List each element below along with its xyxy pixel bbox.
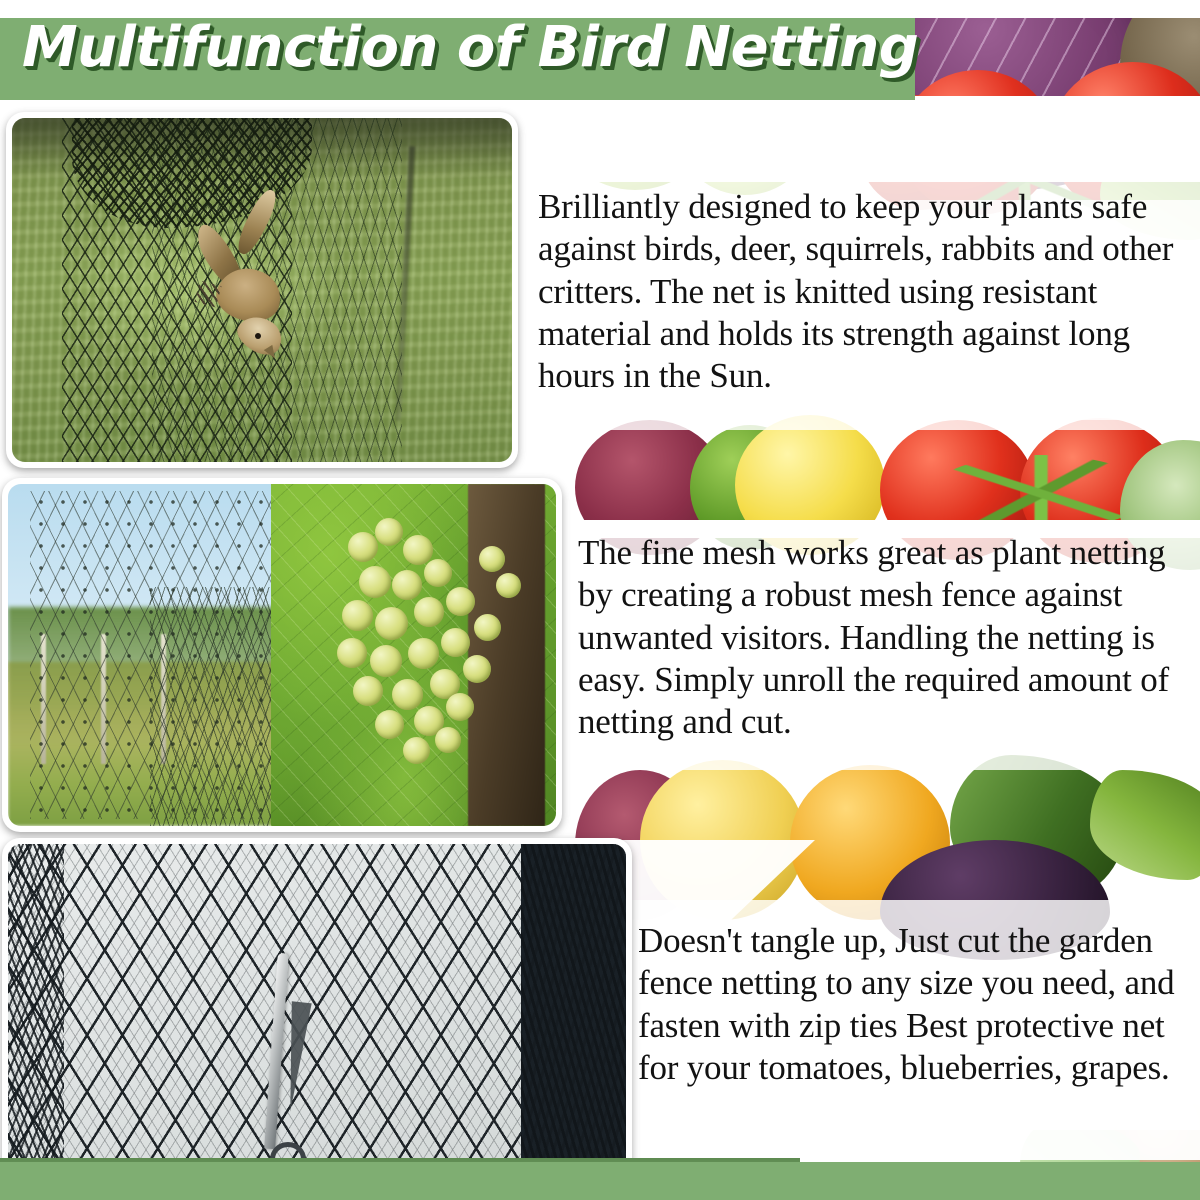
feature-photo-cutting-net	[2, 838, 632, 1200]
feature-photo-cutting-net-inner	[8, 844, 626, 1194]
feature-photo-bird	[6, 112, 518, 468]
grape	[446, 587, 475, 616]
grape	[496, 573, 521, 598]
feature-photo-vineyard-inner	[8, 484, 556, 826]
grape	[348, 532, 378, 562]
feature-photo-vineyard	[2, 478, 562, 832]
grape	[463, 655, 491, 683]
grape	[474, 614, 501, 641]
feature-text-3: Doesn't tangle up, Just cut the garden f…	[638, 920, 1200, 1089]
grape	[403, 535, 433, 565]
grape	[441, 628, 470, 657]
net-bundle-left	[8, 844, 64, 1194]
infographic-page: Multifunction of Bird Netting	[0, 0, 1200, 1200]
grape	[392, 679, 423, 710]
frame-bottom-band	[0, 1162, 1200, 1200]
net-bundle-right	[521, 844, 626, 1194]
bird-eye	[255, 333, 261, 339]
grape	[337, 638, 367, 668]
grape	[403, 737, 430, 764]
grape	[408, 638, 439, 669]
bg-tomato-stem-mid	[930, 455, 1150, 530]
feature-text-1: Brilliantly designed to keep your plants…	[538, 186, 1200, 398]
grape	[359, 566, 391, 598]
grape	[392, 570, 422, 600]
feature-photo-bird-inner	[12, 118, 512, 462]
grape	[446, 693, 474, 721]
grape	[414, 597, 444, 627]
grape	[479, 546, 505, 572]
wash-above-text-1	[520, 96, 1200, 182]
grape	[353, 676, 383, 706]
grape	[370, 645, 402, 677]
feature-text-2: The fine mesh works great as plant netti…	[578, 532, 1200, 744]
grape	[375, 710, 404, 739]
page-title: Multifunction of Bird Netting	[22, 20, 922, 76]
